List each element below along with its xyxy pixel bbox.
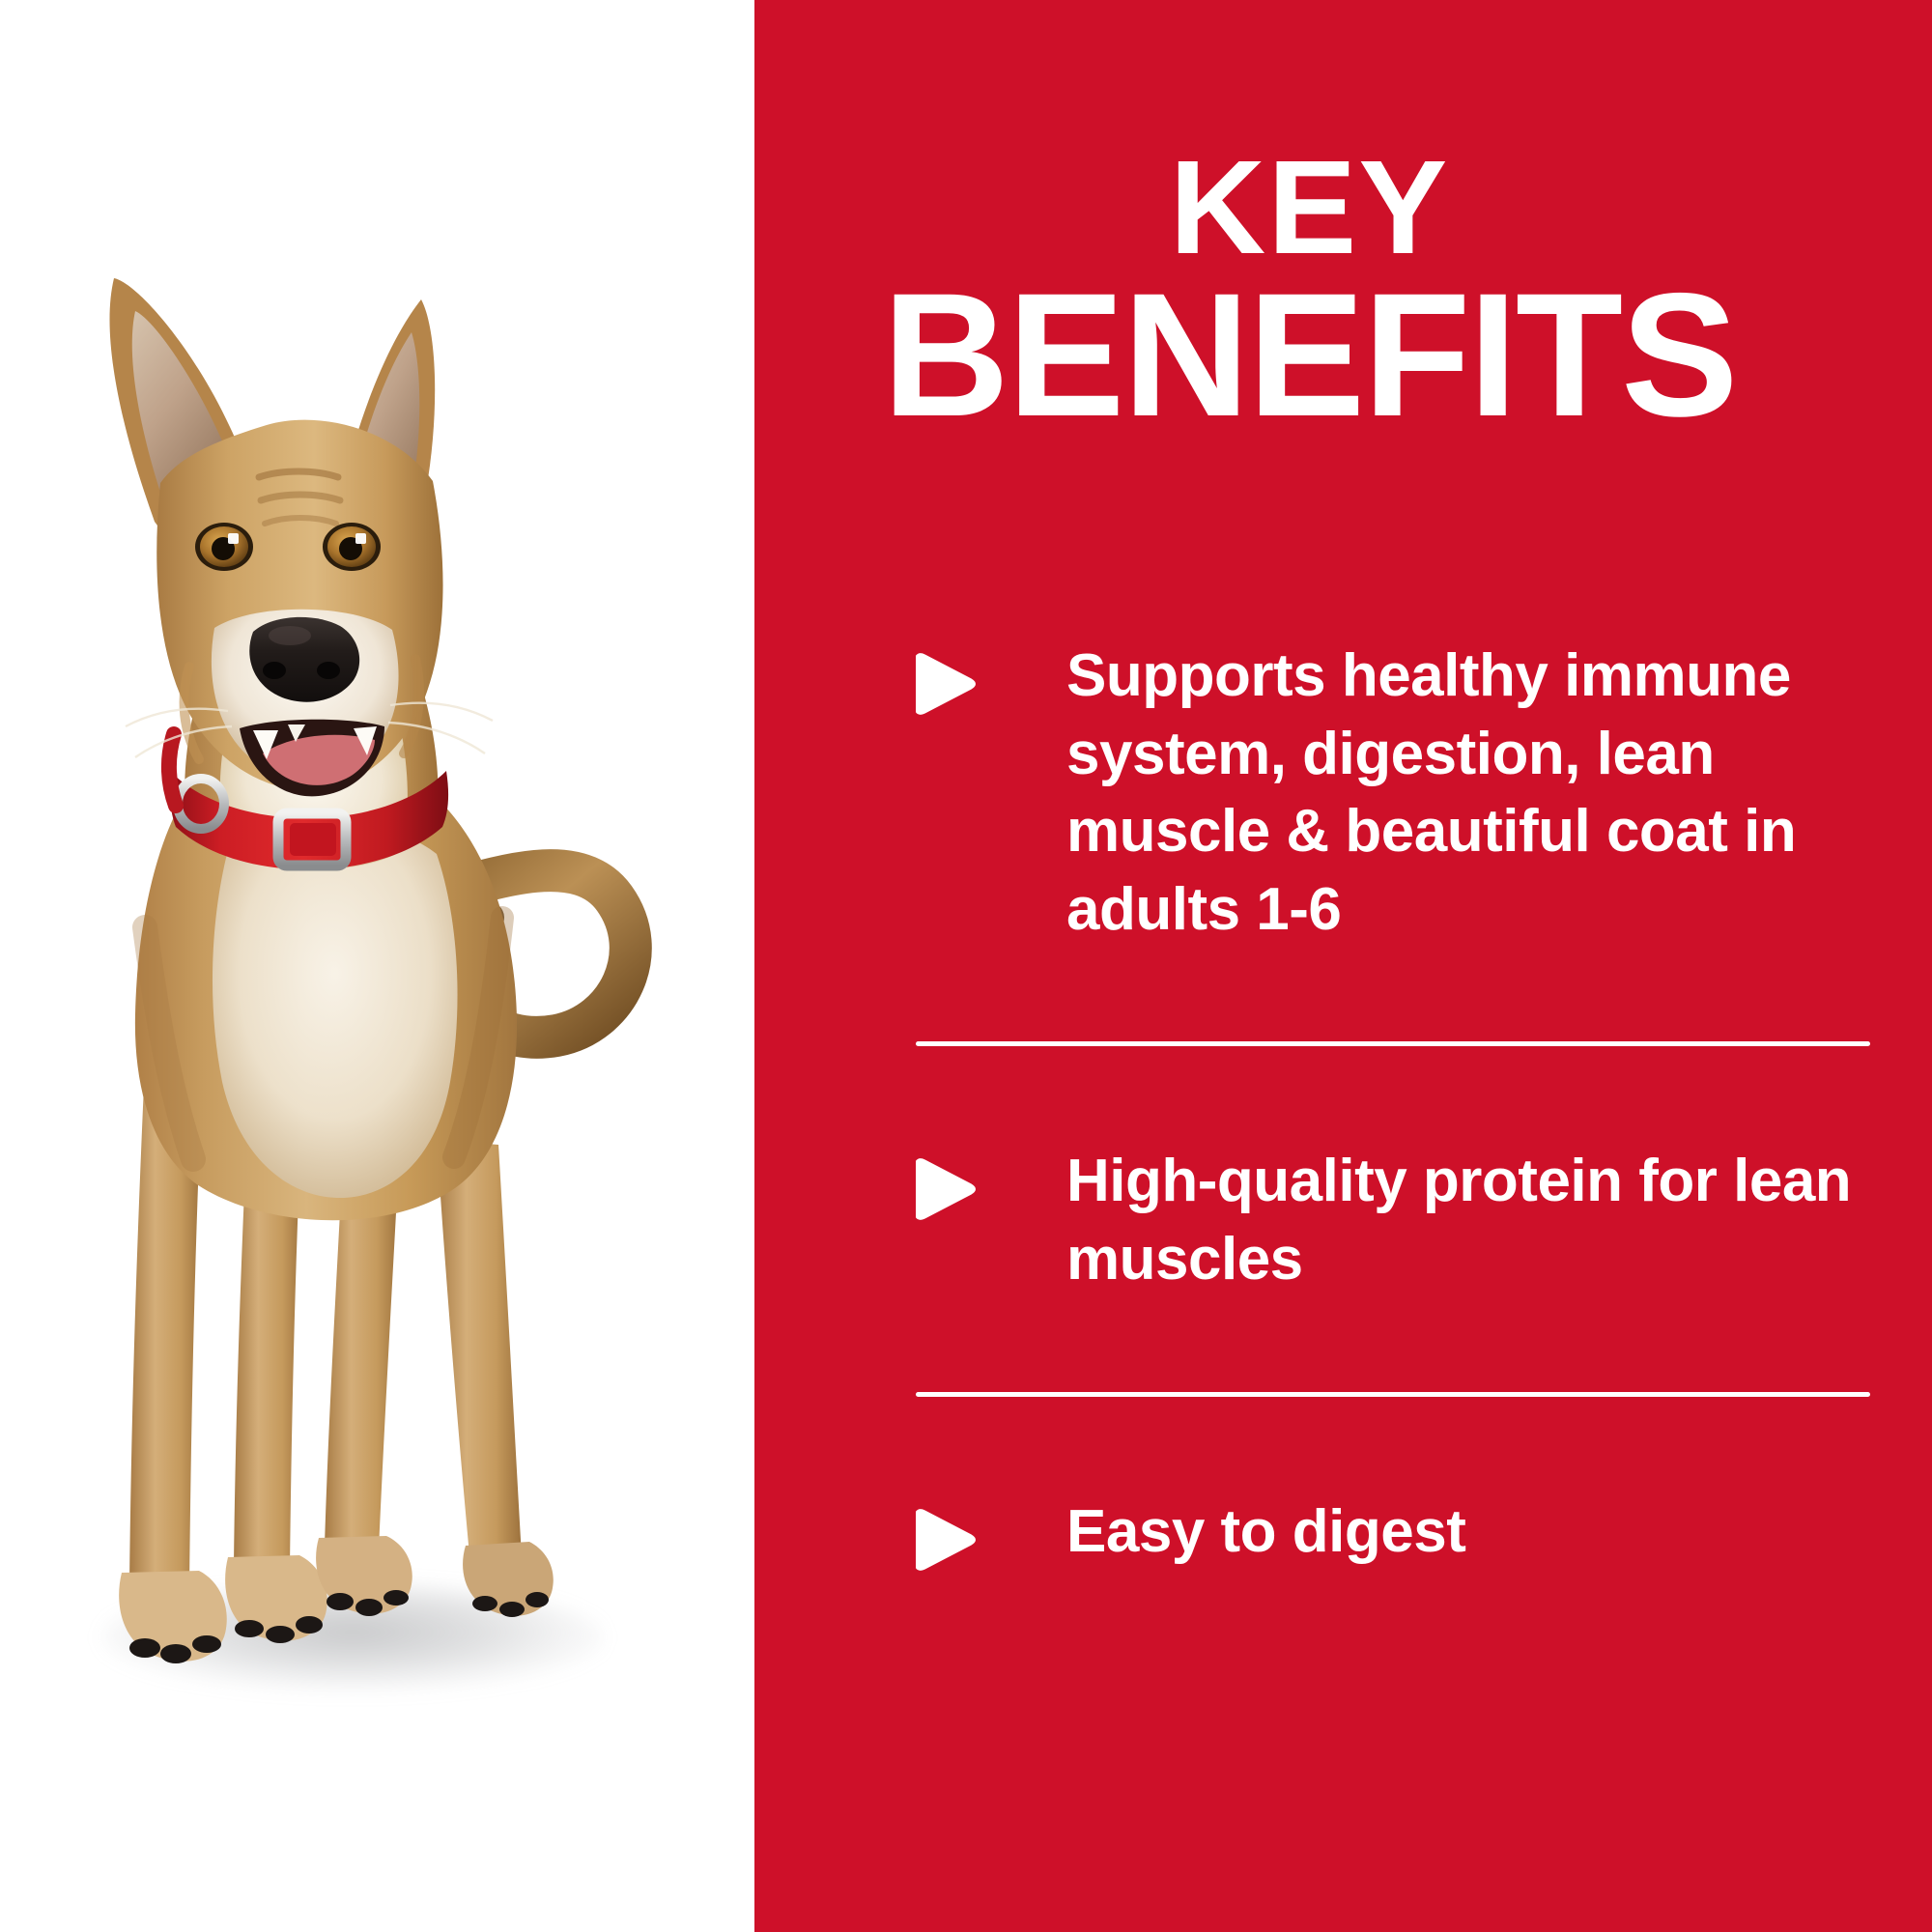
product-photo-panel xyxy=(0,0,754,1932)
dog-head xyxy=(110,278,493,796)
benefit-text: Easy to digest xyxy=(976,1493,1872,1572)
title-line-2: BENEFITS xyxy=(754,271,1864,439)
dog-eye-left xyxy=(195,523,253,571)
list-item: High-quality protein for lean muscles xyxy=(916,1143,1872,1298)
list-item: Supports healthy immune system, digestio… xyxy=(916,638,1872,949)
benefit-text: High-quality protein for lean muscles xyxy=(976,1143,1872,1298)
list-item: Easy to digest xyxy=(916,1493,1872,1575)
dog-eye-right xyxy=(323,523,381,571)
key-benefits-promo-card: KEY BENEFITS Supports healthy immune sys… xyxy=(0,0,1932,1932)
benefit-text: Supports healthy immune system, digestio… xyxy=(976,638,1872,949)
play-triangle-icon xyxy=(916,1154,976,1224)
play-triangle-icon xyxy=(916,649,976,719)
key-benefits-panel: KEY BENEFITS Supports healthy immune sys… xyxy=(754,0,1932,1932)
title-line-1: KEY xyxy=(754,145,1864,271)
benefits-list: Supports healthy immune system, digestio… xyxy=(916,638,1872,1575)
play-triangle-icon xyxy=(916,1505,976,1575)
dog-photo xyxy=(0,0,754,1932)
dog-illustration xyxy=(0,0,754,1932)
page-title: KEY BENEFITS xyxy=(754,145,1864,439)
